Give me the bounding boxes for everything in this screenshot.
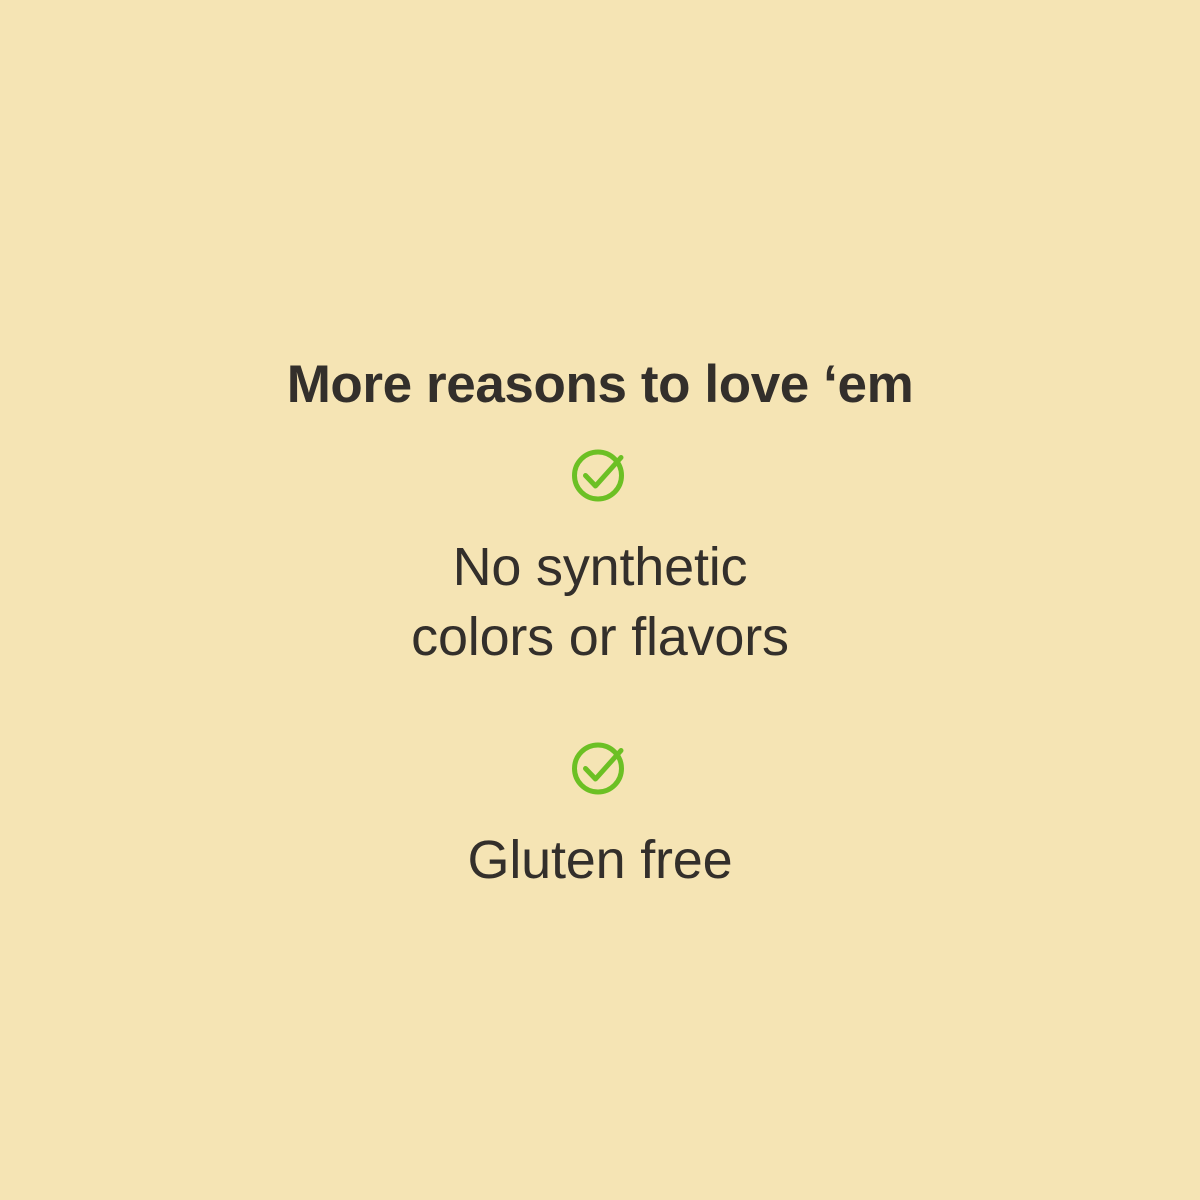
benefit-label-line: colors or flavors: [411, 602, 789, 672]
benefit-item: Gluten free: [0, 737, 1200, 895]
check-circle-icon: [570, 444, 630, 504]
benefit-label-line: Gluten free: [468, 825, 733, 895]
promo-card: More reasons to love ‘em No synthetic co…: [0, 0, 1200, 1200]
check-circle-icon-glyph: [570, 737, 630, 797]
benefit-item: No synthetic colors or flavors: [0, 444, 1200, 672]
benefit-label-line: No synthetic: [411, 532, 789, 602]
check-circle-icon-glyph: [570, 444, 630, 504]
benefit-label: No synthetic colors or flavors: [411, 532, 789, 672]
benefit-label: Gluten free: [468, 825, 733, 895]
check-circle-icon: [570, 737, 630, 797]
page-title: More reasons to love ‘em: [0, 354, 1200, 416]
